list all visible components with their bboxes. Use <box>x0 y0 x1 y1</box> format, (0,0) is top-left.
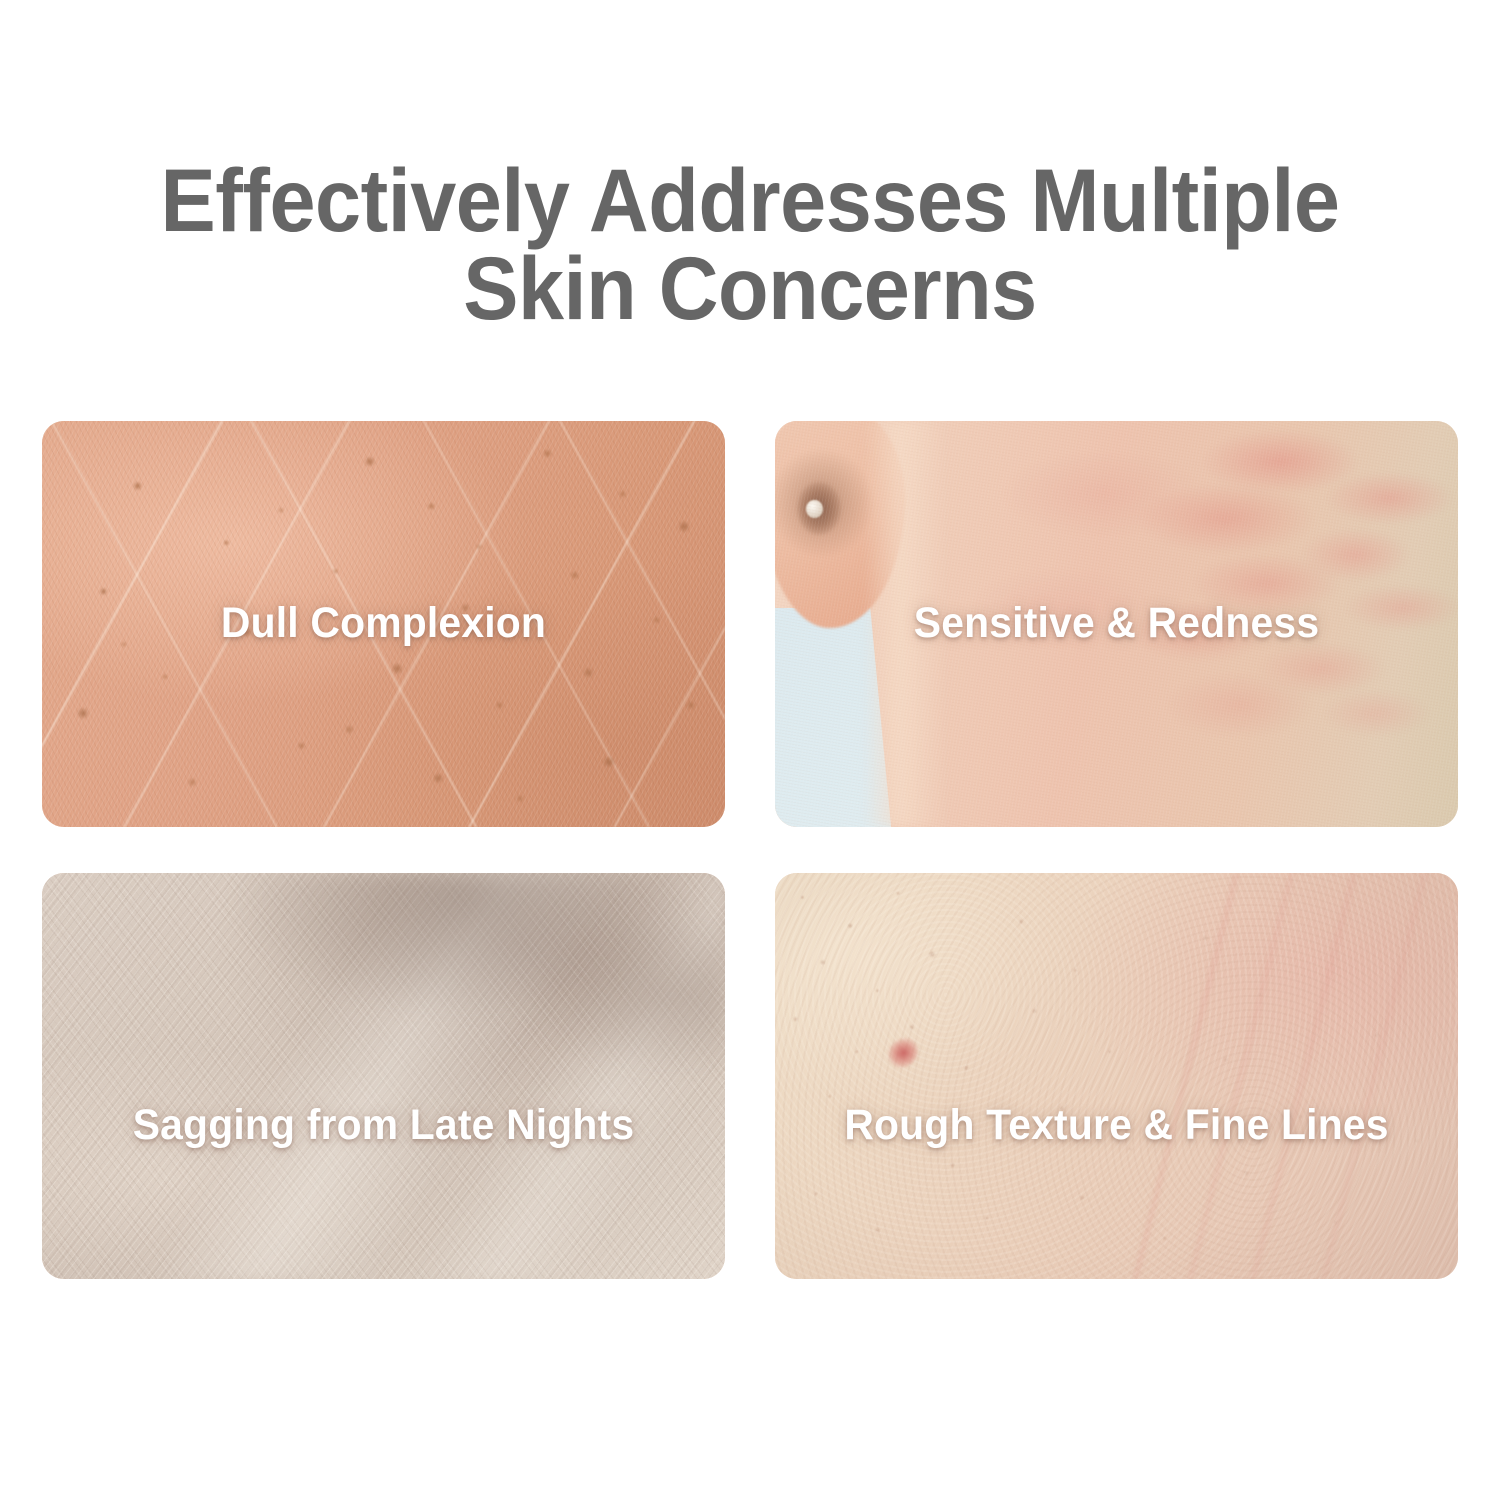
vignette-overlay <box>775 873 1458 1279</box>
concern-card-dull-complexion[interactable]: Dull Complexion <box>42 421 725 827</box>
concern-card-rough-texture[interactable]: Rough Texture & Fine Lines <box>775 873 1458 1279</box>
concern-label-rough-texture: Rough Texture & Fine Lines <box>792 1102 1441 1148</box>
skin-concerns-grid: Dull Complexion Sensitive & Redness Sagg… <box>42 421 1458 1279</box>
concern-card-sensitive-redness[interactable]: Sensitive & Redness <box>775 421 1458 827</box>
page-title: Effectively Addresses Multiple Skin Conc… <box>53 156 1448 332</box>
shadow-overlay <box>42 873 725 1279</box>
concern-label-dull-complexion: Dull Complexion <box>59 600 708 646</box>
concern-label-sensitive-redness: Sensitive & Redness <box>792 600 1441 646</box>
concern-label-sagging: Sagging from Late Nights <box>59 1102 708 1148</box>
product-feature-graphic: Effectively Addresses Multiple Skin Conc… <box>0 0 1500 1500</box>
concern-card-sagging[interactable]: Sagging from Late Nights <box>42 873 725 1279</box>
